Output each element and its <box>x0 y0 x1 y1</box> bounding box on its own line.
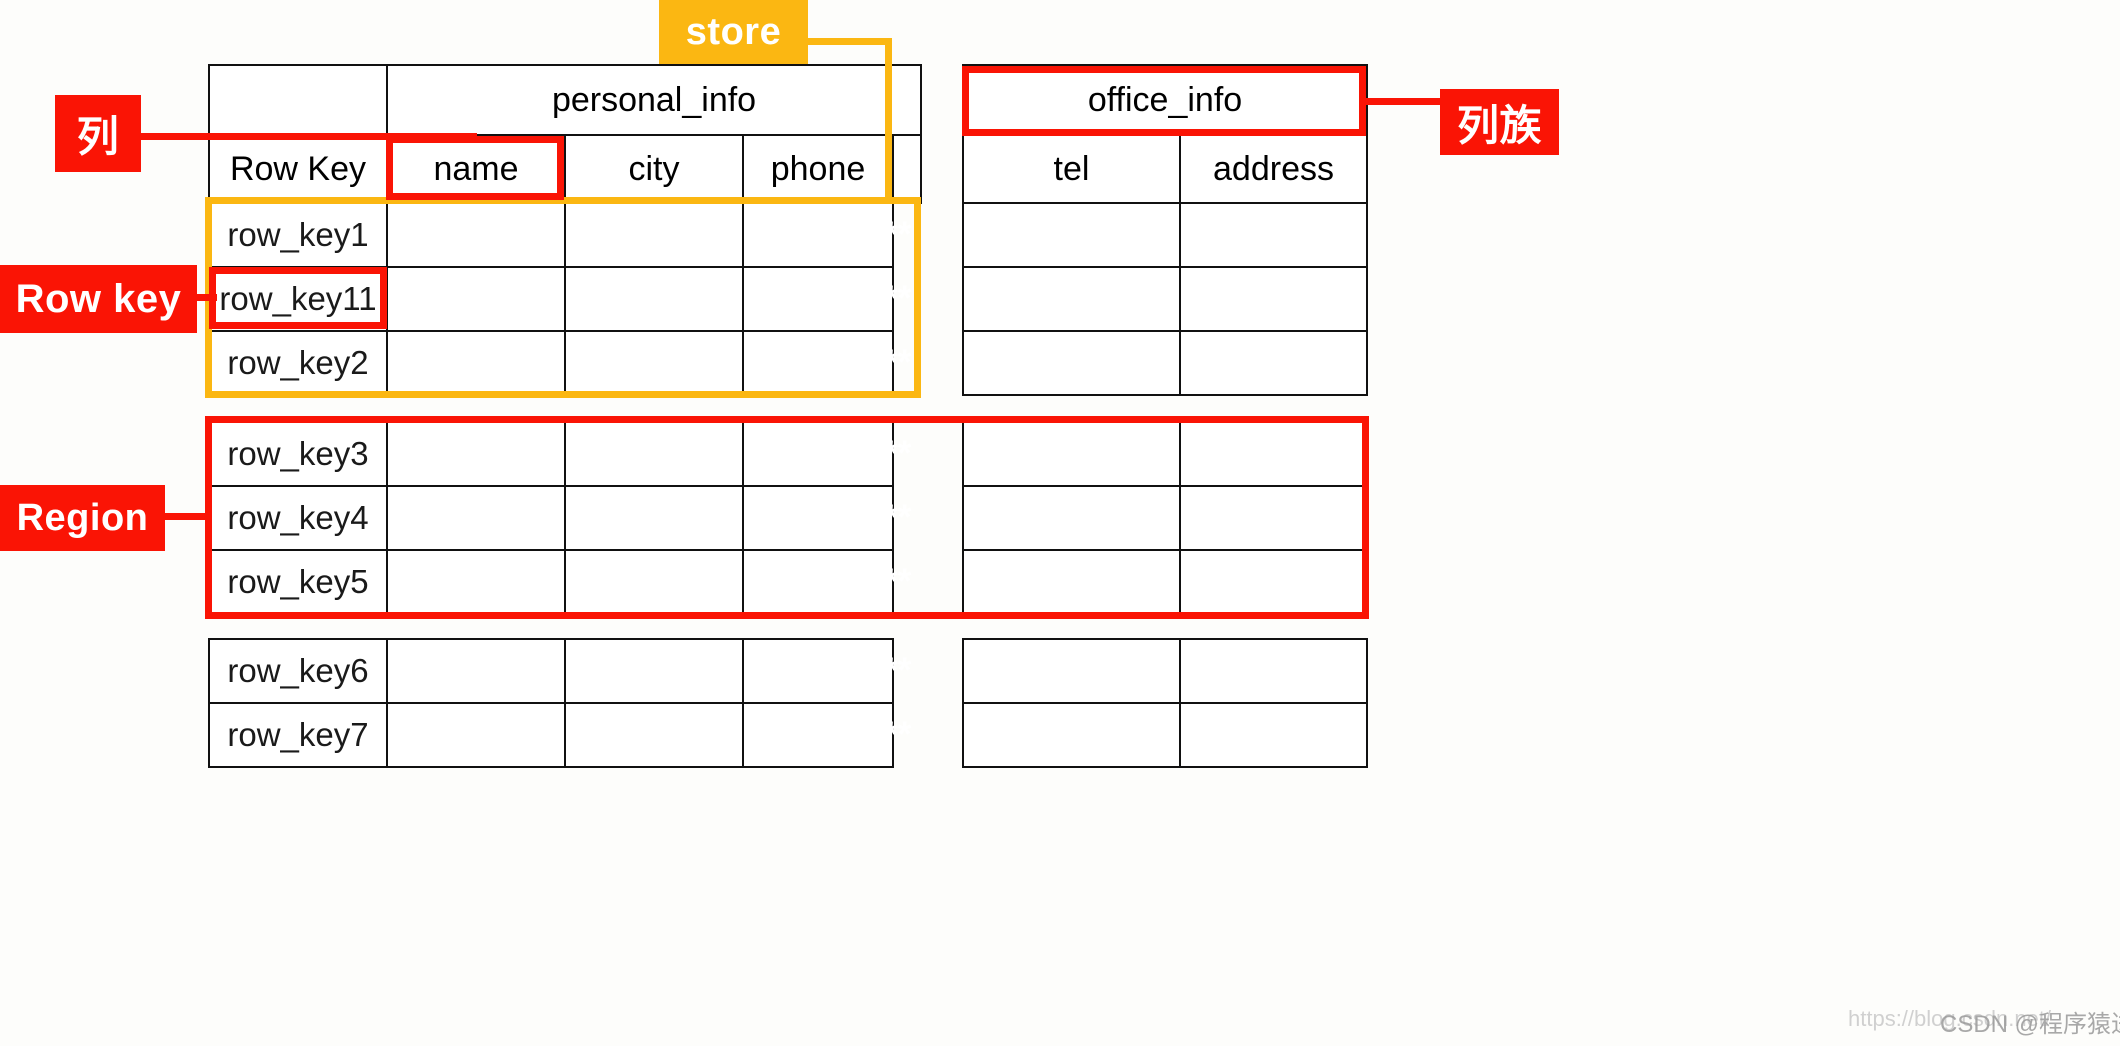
cell-address: atguigu <box>1180 203 1367 267</box>
empty-corner-cell <box>209 65 387 135</box>
table-row: row_key6 金九 武汉 177******** <box>209 639 921 703</box>
cell-city: 重庆 <box>565 550 743 614</box>
cell-row-key: row_key4 <box>209 486 387 550</box>
header-name: name <box>387 135 565 203</box>
table-row: row_key7 银十 保定 158******** <box>209 703 921 767</box>
cell-phone: 134******** <box>743 486 893 550</box>
callout-column-family: 列族 <box>1440 89 1559 155</box>
cell-phone: 177******** <box>743 639 893 703</box>
cell-city: 武汉 <box>565 639 743 703</box>
column-header-row: tel address <box>963 135 1367 203</box>
cell-tel: 010-11111111 <box>963 331 1180 395</box>
cell-phone: 132******** <box>743 267 893 331</box>
header-phone: phone <box>743 135 893 203</box>
cell-tel: 010-11111111 <box>963 550 1180 614</box>
table-row: 010-11111111 atguigu <box>963 486 1367 550</box>
header-row-key: Row Key <box>209 135 387 203</box>
family-label-personal-info: personal_info <box>387 65 921 135</box>
cell-row-key: row_key11 <box>209 267 387 331</box>
table-row: row_key11 李四 上海 132******** <box>209 267 921 331</box>
region-leader <box>160 513 210 520</box>
cell-city: 上海 <box>565 267 743 331</box>
cell-phone: 159******** <box>743 331 893 395</box>
family-header-row: personal_info <box>209 65 921 135</box>
office-info-group-2: 010-11111111 atguigu 010-11111111 atguig… <box>962 421 1368 615</box>
callout-store-label: store <box>686 11 781 54</box>
column-leader-horizontal <box>136 133 477 140</box>
cell-phone: 158******** <box>743 703 893 767</box>
cell-row-key: row_key7 <box>209 703 387 767</box>
table-row: 010-11111111 atguigu <box>963 203 1367 267</box>
cell-phone: 139******** <box>743 550 893 614</box>
office-info-table: office_info tel address 010-11111111 atg… <box>962 64 1368 396</box>
cell-address: atguigu <box>1180 422 1367 486</box>
table-row: row_key4 横七 大连 134******** <box>209 486 921 550</box>
cell-phone: 131******** <box>743 203 893 267</box>
header-spacer-cell <box>893 135 921 203</box>
watermark-credit-text: CSDN @程序猿进阶 <box>1940 1011 2120 1038</box>
cell-row-key: row_key6 <box>209 639 387 703</box>
cell-address: atguigu <box>1180 486 1367 550</box>
table-row: row_key2 王五 广州 159******** <box>209 331 921 395</box>
table-row: 010-11111111 atguigu <box>963 267 1367 331</box>
callout-row-key-label: Row key <box>16 277 182 322</box>
cell-city: 深圳 <box>565 422 743 486</box>
family-label-office-info: office_info <box>963 65 1367 135</box>
header-tel: tel <box>963 135 1180 203</box>
cell-city: 广州 <box>565 331 743 395</box>
cell-address: atguigu <box>1180 267 1367 331</box>
cell-address: atguigu <box>1180 639 1367 703</box>
cell-tel: 010-11111111 <box>963 486 1180 550</box>
cell-city: 保定 <box>565 703 743 767</box>
cell-row-key: row_key2 <box>209 331 387 395</box>
cell-row-key: row_key1 <box>209 203 387 267</box>
callout-column: 列 <box>55 95 141 172</box>
cell-tel: 010-11111111 <box>963 203 1180 267</box>
header-city: city <box>565 135 743 203</box>
cell-name: 竖八 <box>387 550 565 614</box>
cell-name: 横七 <box>387 486 565 550</box>
callout-column-family-label: 列族 <box>1457 92 1542 153</box>
diagram-canvas: personal_info Row Key name city phone ro… <box>0 0 2120 1046</box>
cell-name: 李四 <box>387 267 565 331</box>
cell-address: atguigu <box>1180 703 1367 767</box>
callout-store: store <box>659 0 808 64</box>
cell-city: 北京 <box>565 203 743 267</box>
store-leader-horizontal <box>800 38 892 45</box>
cell-city: 大连 <box>565 486 743 550</box>
cell-tel: 010-11111111 <box>963 703 1180 767</box>
column-header-row: Row Key name city phone <box>209 135 921 203</box>
column-family-leader <box>1360 98 1444 105</box>
cell-tel: 010-11111111 <box>963 267 1180 331</box>
cell-name: 赵六 <box>387 422 565 486</box>
personal-info-group-3: row_key6 金九 武汉 177******** row_key7 银十 保… <box>208 638 922 768</box>
watermark-credit: CSDN @程序猿进阶 <box>1940 1004 2120 1039</box>
office-info-group-3: 010-11111111 atguigu 010-11111111 atguig… <box>962 638 1368 768</box>
cell-phone: 187******** <box>743 422 893 486</box>
table-row: row_key1 张三 北京 131******** <box>209 203 921 267</box>
cell-name: 张三 <box>387 203 565 267</box>
column-leader-vertical <box>470 133 477 143</box>
header-address: address <box>1180 135 1367 203</box>
callout-column-label: 列 <box>77 103 120 164</box>
table-row: row_key5 竖八 重庆 139******** <box>209 550 921 614</box>
cell-name: 王五 <box>387 331 565 395</box>
table-row: row_key3 赵六 深圳 187******** <box>209 422 921 486</box>
cell-row-key: row_key3 <box>209 422 387 486</box>
personal-info-table: personal_info Row Key name city phone ro… <box>208 64 922 396</box>
family-header-row: office_info <box>963 65 1367 135</box>
table-row: 010-11111111 atguigu <box>963 639 1367 703</box>
table-row: 010-11111111 atguigu <box>963 550 1367 614</box>
callout-region-label: Region <box>17 497 149 540</box>
cell-name: 金九 <box>387 639 565 703</box>
personal-info-group-2: row_key3 赵六 深圳 187******** row_key4 横七 大… <box>208 421 922 615</box>
table-row: 010-11111111 atguigu <box>963 703 1367 767</box>
cell-name: 银十 <box>387 703 565 767</box>
table-row: 010-11111111 atguigu <box>963 422 1367 486</box>
store-leader-vertical <box>885 38 892 200</box>
cell-row-key: row_key5 <box>209 550 387 614</box>
cell-address: atguigu <box>1180 550 1367 614</box>
cell-tel: 010-11111111 <box>963 639 1180 703</box>
cell-tel: 010-11111111 <box>963 422 1180 486</box>
callout-region: Region <box>0 485 165 551</box>
callout-row-key: Row key <box>0 265 197 333</box>
cell-address: atguigu <box>1180 331 1367 395</box>
table-row: 010-11111111 atguigu <box>963 331 1367 395</box>
